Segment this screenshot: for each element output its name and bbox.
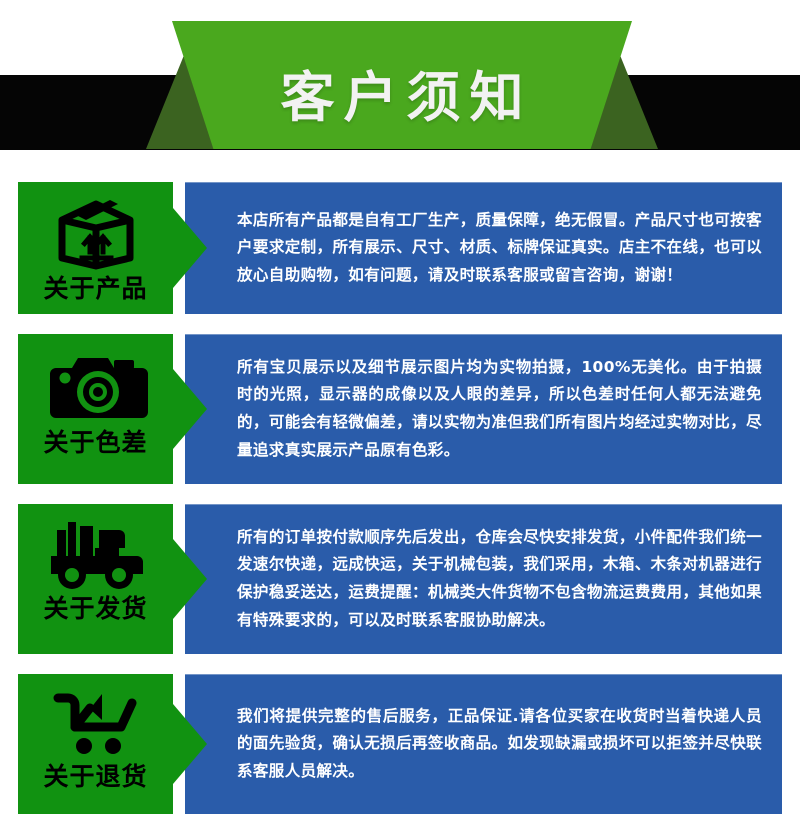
- page-header: 客户须知: [0, 0, 800, 162]
- icon-card-label: 关于退货: [43, 760, 147, 799]
- notice-body-product: 本店所有产品都是自有工厂生产，质量保障，绝无假冒。产品尺寸也可按客户要求定制，所…: [237, 207, 762, 290]
- icon-card-label: 关于发货: [43, 592, 147, 631]
- notice-text-panel-color: 所有宝贝展示以及细节展示图片均为实物拍摄，100%无美化。由于拍摄时的光照，显示…: [185, 334, 782, 484]
- notice-section-product: 关于产品 本店所有产品都是自有工厂生产，质量保障，绝无假冒。产品尺寸也可按客户要…: [0, 182, 800, 314]
- notice-body-shipping: 所有的订单按付款顺序先后发出，仓库会尽快安排发货，小件配件我们统一发速尔快递，远…: [237, 524, 762, 634]
- page-title: 客户须知: [272, 45, 533, 125]
- notice-sections: 关于产品 本店所有产品都是自有工厂生产，质量保障，绝无假冒。产品尺寸也可按客户要…: [0, 162, 800, 814]
- package-box-icon: [18, 182, 173, 272]
- camera-icon: [18, 334, 173, 426]
- ribbon-banner: 客户须知: [172, 21, 632, 149]
- icon-card-shipping[interactable]: 关于发货: [18, 504, 173, 654]
- notice-text-panel-return: 我们将提供完整的售后服务，正品保证.请各位买家在收货时当着快递人员的面先验货，确…: [185, 674, 782, 814]
- notice-text-panel-shipping: 所有的订单按付款顺序先后发出，仓库会尽快安排发货，小件配件我们统一发速尔快递，远…: [185, 504, 782, 654]
- notice-text-panel-product: 本店所有产品都是自有工厂生产，质量保障，绝无假冒。产品尺寸也可按客户要求定制，所…: [185, 182, 782, 314]
- notice-section-color: 关于色差 所有宝贝展示以及细节展示图片均为实物拍摄，100%无美化。由于拍摄时的…: [0, 334, 800, 484]
- notice-body-return: 我们将提供完整的售后服务，正品保证.请各位买家在收货时当着快递人员的面先验货，确…: [237, 703, 762, 786]
- return-cart-icon: [18, 674, 173, 760]
- notice-section-shipping: 关于发货 所有的订单按付款顺序先后发出，仓库会尽快安排发货，小件配件我们统一发速…: [0, 504, 800, 654]
- forklift-truck-icon: [18, 504, 173, 592]
- icon-card-label: 关于色差: [43, 426, 147, 465]
- icon-card-color[interactable]: 关于色差: [18, 334, 173, 484]
- icon-card-product[interactable]: 关于产品: [18, 182, 173, 314]
- notice-body-color: 所有宝贝展示以及细节展示图片均为实物拍摄，100%无美化。由于拍摄时的光照，显示…: [237, 354, 762, 464]
- icon-card-return[interactable]: 关于退货: [18, 674, 173, 814]
- notice-section-return: 关于退货 我们将提供完整的售后服务，正品保证.请各位买家在收货时当着快递人员的面…: [0, 674, 800, 814]
- icon-card-label: 关于产品: [43, 272, 147, 311]
